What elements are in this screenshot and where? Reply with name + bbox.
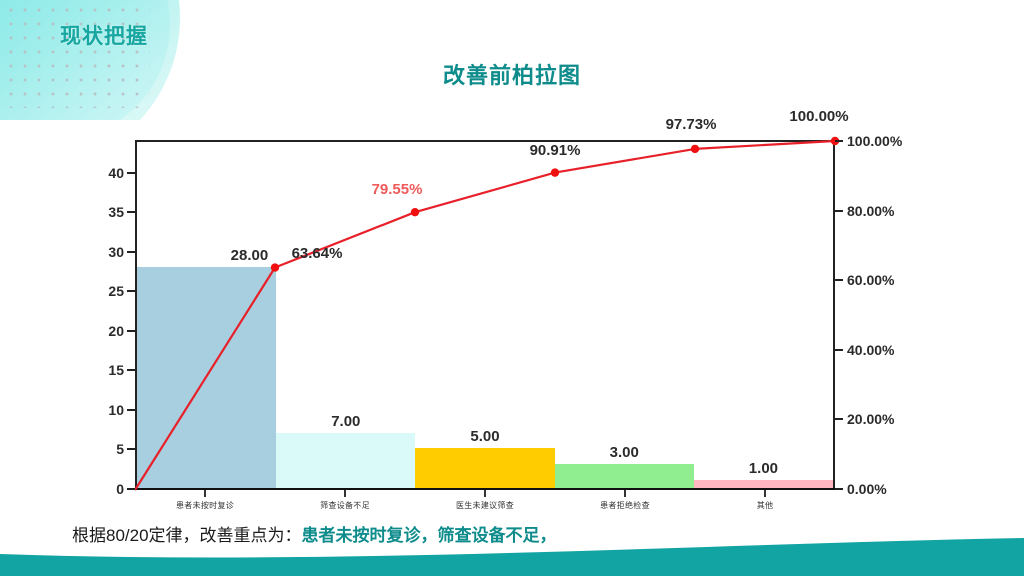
plot-area: 28.007.005.003.001.00 0510152025303540 0… (135, 140, 835, 490)
y2-tick-label-20: 20.00% (835, 411, 894, 427)
y2-tick-mark-0 (835, 488, 843, 490)
y-tick-mark-20 (127, 330, 135, 332)
chart-title: 改善前柏拉图 (0, 58, 1024, 90)
cumulative-line-series (135, 140, 835, 490)
x-tick-mark-5 (764, 490, 766, 497)
y-tick-mark-15 (127, 369, 135, 371)
y-tick-mark-5 (127, 448, 135, 450)
y-tick-mark-10 (127, 409, 135, 411)
bottom-bar-shape (0, 536, 1024, 576)
cumulative-marker-4 (691, 145, 699, 153)
y-tick-mark-25 (127, 290, 135, 292)
y-tick-mark-30 (127, 251, 135, 253)
y2-tick-label-40: 40.00% (835, 342, 894, 358)
cumulative-marker-2 (411, 208, 419, 216)
cumulative-percent-label-2: 79.55% (372, 181, 423, 198)
slide-root: 现状把握 改善前柏拉图 28.007.005.003.001.00 051015… (0, 0, 1024, 576)
cumulative-percent-label-3: 90.91% (530, 142, 581, 159)
bottom-decoration-bar (0, 536, 1024, 576)
y2-tick-label-60: 60.00% (835, 272, 894, 288)
y2-tick-label-100: 100.00% (835, 133, 902, 149)
section-label: 现状把握 (60, 20, 148, 50)
y2-tick-mark-20 (835, 418, 843, 420)
cumulative-marker-1 (271, 263, 279, 271)
cumulative-percent-label-5: 100.00% (789, 108, 848, 125)
y-tick-mark-40 (127, 172, 135, 174)
header-dot-pattern (0, 0, 150, 108)
y2-tick-label-80: 80.00% (835, 203, 894, 219)
y-tick-mark-35 (127, 211, 135, 213)
y-tick-mark-0 (127, 488, 135, 490)
cumulative-line-path (135, 141, 835, 490)
pareto-chart: 28.007.005.003.001.00 0510152025303540 0… (135, 140, 835, 490)
cumulative-marker-3 (551, 168, 559, 176)
y2-tick-mark-60 (835, 279, 843, 281)
y2-tick-mark-100 (835, 140, 843, 142)
x-tick-mark-2 (344, 490, 346, 497)
y2-tick-mark-40 (835, 349, 843, 351)
cumulative-percent-label-1: 63.64% (292, 245, 343, 262)
y2-tick-mark-80 (835, 210, 843, 212)
x-tick-mark-3 (484, 490, 486, 497)
x-tick-mark-1 (204, 490, 206, 497)
cumulative-percent-label-4: 97.73% (666, 116, 717, 133)
x-tick-mark-4 (624, 490, 626, 497)
